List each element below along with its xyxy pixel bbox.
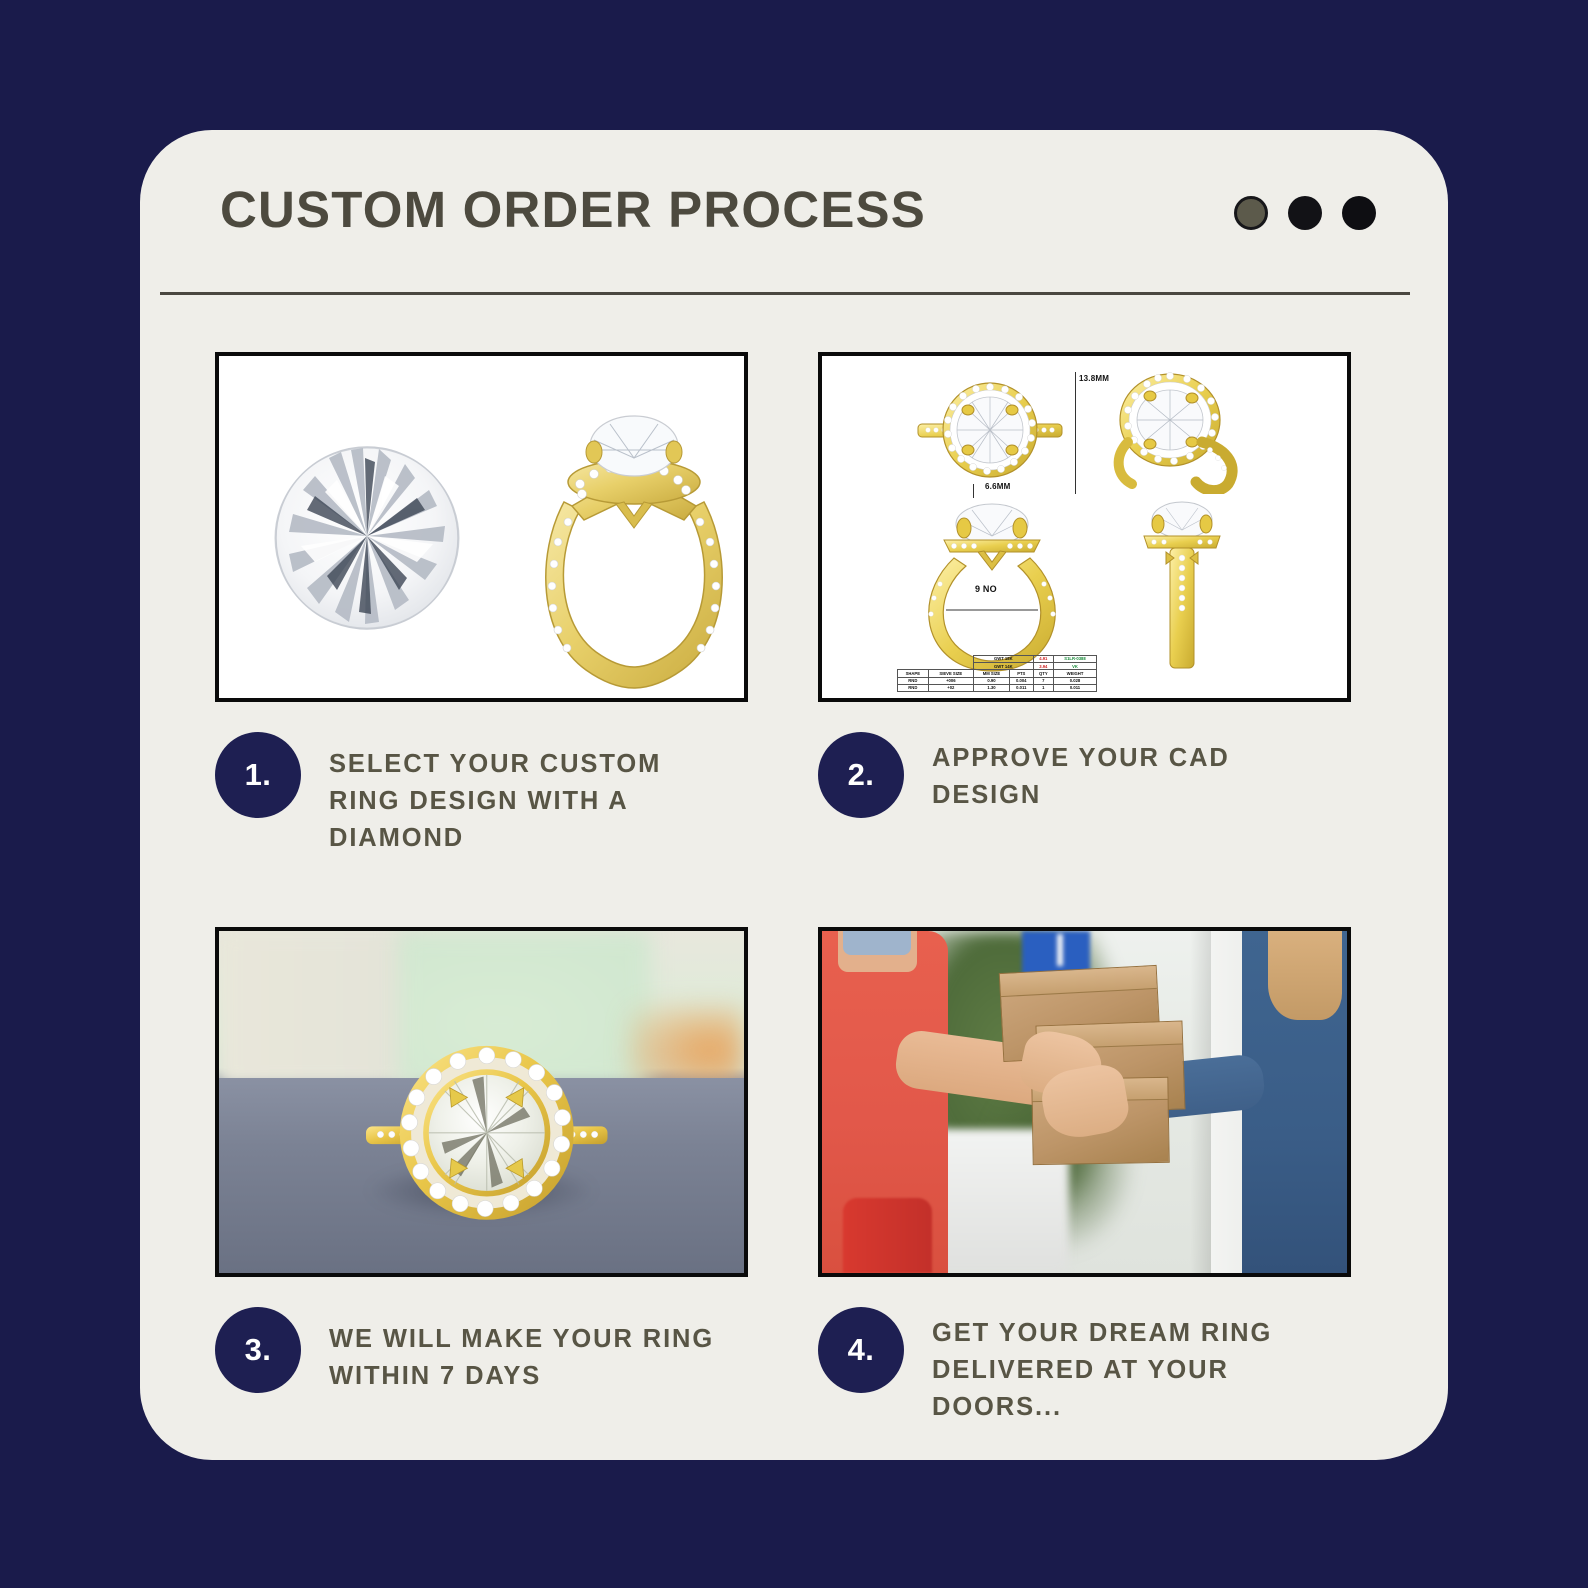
spec-r1c0: RND xyxy=(898,684,929,691)
browser-card: CUSTOM ORDER PROCESS xyxy=(140,130,1448,1460)
step-card-3: 3. WE WILL MAKE YOUR RING WITHIN 7 DAYS xyxy=(215,927,748,1426)
step-number-badge-1: 1. xyxy=(215,732,301,818)
spec-r1c5: 0.011 xyxy=(1054,684,1097,691)
step-label-3: WE WILL MAKE YOUR RING WITHIN 7 DAYS xyxy=(329,1307,729,1395)
spec-r0c5: 0.028 xyxy=(1054,677,1097,684)
loose-diamond-illustration xyxy=(267,434,467,634)
step-4-footer: 4. GET YOUR DREAM RING DELIVERED AT YOUR… xyxy=(818,1307,1351,1426)
spec-header-2: MM SIZE xyxy=(974,670,1010,677)
spec-header-0: SHAPE xyxy=(898,670,929,677)
spec-r0c2: 0.90 xyxy=(974,677,1010,684)
finished-ring-photo xyxy=(219,931,744,1273)
face-mask-icon xyxy=(843,931,911,955)
step-3-footer: 3. WE WILL MAKE YOUR RING WITHIN 7 DAYS xyxy=(215,1307,748,1395)
step-2-footer: 2. APPROVE YOUR CAD DESIGN xyxy=(818,732,1351,818)
window-dot-black-icon[interactable] xyxy=(1288,196,1322,230)
cad-ring-size-label: 9 NO xyxy=(975,584,997,594)
step-label-2: APPROVE YOUR CAD DESIGN xyxy=(932,732,1332,814)
spec-header-3: PTS xyxy=(1009,670,1033,677)
step-card-2: 13.8MM xyxy=(818,352,1351,857)
step-3-image xyxy=(215,927,748,1277)
poster-root: CUSTOM ORDER PROCESS xyxy=(0,0,1588,1588)
step-number-badge-3: 3. xyxy=(215,1307,301,1393)
gold-halo-ring-illustration xyxy=(524,374,744,694)
window-dot-black-2-icon[interactable] xyxy=(1342,196,1376,230)
gwt-18k-value: 4.91 xyxy=(1033,655,1053,662)
cad-sheet: 13.8MM xyxy=(822,356,1347,698)
hand-truck xyxy=(843,1198,932,1273)
spec-header-1: SIEVE SIZE xyxy=(928,670,973,677)
step-1-image xyxy=(215,352,748,702)
design-code: S1LR-0388 xyxy=(1054,655,1097,662)
spec-r1c1: +02 xyxy=(928,684,973,691)
cad-dimension-line-height xyxy=(1075,372,1076,494)
spec-header-5: WEIGHT xyxy=(1054,670,1097,677)
step-card-1: 1. SELECT YOUR CUSTOM RING DESIGN WITH A… xyxy=(215,352,748,857)
steps-grid: 1. SELECT YOUR CUSTOM RING DESIGN WITH A… xyxy=(215,352,1375,1426)
card-header: CUSTOM ORDER PROCESS xyxy=(140,130,1448,293)
header-divider xyxy=(160,292,1410,295)
page-title: CUSTOM ORDER PROCESS xyxy=(220,180,926,239)
steps-row-2: 3. WE WILL MAKE YOUR RING WITHIN 7 DAYS xyxy=(215,927,1375,1426)
step-4-image xyxy=(818,927,1351,1277)
spec-r0c4: 7 xyxy=(1033,677,1053,684)
gwt-18k-label: GWT 18K xyxy=(974,655,1034,662)
spec-r0c1: +006 xyxy=(928,677,973,684)
window-controls xyxy=(1234,196,1376,230)
step-card-4: 4. GET YOUR DREAM RING DELIVERED AT YOUR… xyxy=(818,927,1351,1426)
spec-r0c0: RND xyxy=(898,677,929,684)
step-number-badge-2: 2. xyxy=(818,732,904,818)
spec-r1c4: 1 xyxy=(1033,684,1053,691)
step-2-image: 13.8MM xyxy=(818,352,1351,702)
window-dot-olive-icon[interactable] xyxy=(1234,196,1268,230)
table-row: RND +006 0.90 0.004 7 0.028 xyxy=(898,677,1097,684)
spec-r1c2: 1.30 xyxy=(974,684,1010,691)
cad-spec-table: GWT 18K 4.91 S1LR-0388 GWT 14K 3.94 VK xyxy=(897,655,1097,692)
spec-header-4: QTY xyxy=(1033,670,1053,677)
step-label-1: SELECT YOUR CUSTOM RING DESIGN WITH A DI… xyxy=(329,732,729,857)
spec-r1c3: 0.011 xyxy=(1009,684,1033,691)
gwt-14k-value: 3.94 xyxy=(1033,663,1053,670)
table-row: RND +02 1.30 0.011 1 0.011 xyxy=(898,684,1097,691)
step-1-footer: 1. SELECT YOUR CUSTOM RING DESIGN WITH A… xyxy=(215,732,748,857)
spec-r0c3: 0.004 xyxy=(1009,677,1033,684)
steps-row-1: 1. SELECT YOUR CUSTOM RING DESIGN WITH A… xyxy=(215,352,1375,857)
gwt-14k-label: GWT 14K xyxy=(974,663,1034,670)
cad-dimension-width: 6.6MM xyxy=(985,482,1010,491)
step-label-4: GET YOUR DREAM RING DELIVERED AT YOUR DO… xyxy=(932,1307,1332,1426)
step-number-badge-4: 4. xyxy=(818,1307,904,1393)
design-initials: VK xyxy=(1054,663,1097,670)
delivery-photo xyxy=(822,931,1347,1273)
